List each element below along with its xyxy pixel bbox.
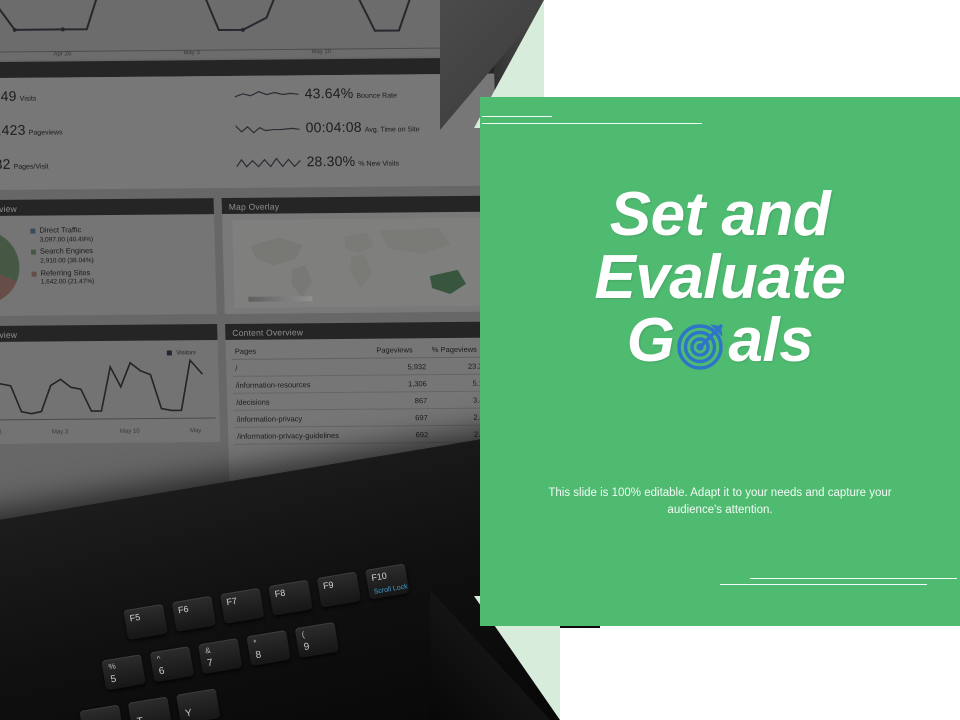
visitors-overview-panel: Visitors Overview Apr 26 May 3 May 10 Ma… [0,324,220,444]
visitors-xtick-2: May 10 [120,429,140,435]
key-f8-label: F8 [274,588,286,600]
content-overview-table: Pages Pageviews % Pageviews / 5,932 23.3… [232,342,499,445]
cell-page: /information-privacy-guidelines [234,426,376,444]
visitors-legend-label: Visitors [176,350,196,356]
key-f9-label: F9 [322,579,334,591]
sources-pie-chart [0,230,20,305]
decor-rule-top-short [482,116,552,117]
key-f8: F8 [268,580,312,616]
key-f10-label: F10 [371,571,388,583]
goal-prefix: G [627,309,675,372]
page-title: Set and Evaluate G als [480,183,960,373]
target-goal-icon [676,319,728,371]
legend-value-referring-sites: 1,642.00 (21.47%) [41,279,95,287]
top-chart-xtick-1: May 3 [183,50,200,56]
cell-pageviews: 5,932 [374,358,430,375]
top-chart-xtick-0: Apr 26 [53,51,71,57]
content-overview-title: Content Overview [225,322,501,340]
sparkline-newvisits-icon [236,156,300,169]
key-9-label: 9 [303,641,310,653]
visitors-overview-title: Visitors Overview [0,324,218,342]
visitors-xtick-3: May [190,428,202,434]
key-8: * 8 [246,630,290,666]
cell-page: / [232,358,374,376]
key-y: Y [176,688,220,720]
legend-item-direct-traffic: Direct Traffic 3,097.00 (40.49%) [30,225,93,244]
key-5-label: 5 [110,674,117,686]
legend-item-search-engines: Search Engines 2,910.00 (38.04%) [31,247,94,266]
metric-pages-per-visit-value: 3.32 [0,156,11,172]
key-f9: F9 [317,572,361,608]
decor-rule-bottom-upper [750,578,957,579]
metric-visits: 7,649Visits [0,88,37,106]
top-chart-xtick-2: May 10 [311,49,331,55]
col-pages: Pages [232,343,374,360]
legend-label-direct-traffic: Direct Traffic [39,225,81,234]
cell-pageviews: 692 [375,426,431,443]
key-9: ( 9 [295,622,339,658]
key-f10: F10 Scroll Lock [365,563,409,599]
col-pageviews: Pageviews [373,342,429,358]
metric-new-visits-value: 28.30% [306,153,355,169]
key-r: R [79,705,123,720]
key-f7-label: F7 [226,596,238,608]
keyboard-fn-row: F5 F6 F7 F8 F9 F10 Scroll Lock [123,563,409,640]
sparkline-bounce-icon [234,88,298,101]
metric-bounce-rate: 43.64%Bounce Rate [234,84,397,103]
metric-avg-time: 00:04:08Avg. Time on Site [235,118,419,138]
metric-avg-time-value: 00:04:08 [305,119,362,135]
key-6: ^ 6 [150,646,194,682]
key-f6: F6 [172,596,216,632]
visitors-legend: Visitors [167,350,196,356]
map-overlay-title: Map Overlay [222,196,498,214]
decor-rule-top-long [482,123,702,124]
sparkline-time-icon [235,122,299,135]
sources-overview-title: Sources Overview [0,198,214,216]
key-6-shift: ^ [156,654,161,663]
key-5: % 5 [101,654,145,690]
metric-avg-time-unit: Avg. Time on Site [365,126,420,133]
visits-trend-chart: Apr 26 May 3 May 10 May 17 250 [0,0,494,61]
key-y-label: Y [184,708,192,720]
cell-pageviews: 697 [375,409,431,426]
metric-new-visits-unit: % New Visits [358,160,399,167]
metric-pages-per-visit-unit: Pages/Visit [14,164,49,171]
sources-legend: Direct Traffic 3,097.00 (40.49%) Search … [30,225,94,290]
white-block-bottom [560,628,960,720]
legend-value-direct-traffic: 3,097.00 (40.49%) [40,236,94,244]
keyboard-letter-row: R T Y [79,688,220,720]
table-row: /information-privacy-guidelines 692 2.72… [234,425,499,444]
key-t-label: T [136,716,144,720]
cell-page: /information-resources [233,375,375,393]
map-intensity-legend [248,296,312,302]
metric-pageviews: 25,423Pageviews [0,121,63,140]
cell-page: /information-privacy [233,409,375,427]
key-f10-sublabel: Scroll Lock [373,583,408,596]
cell-pageviews: 867 [374,392,430,409]
key-9-shift: ( [301,630,305,639]
cell-page: /decisions [233,392,375,410]
key-t: T [128,696,172,720]
key-f7: F7 [220,588,264,624]
green-content-panel: Set and Evaluate G als This slide is [480,97,960,626]
decor-rule-bottom-lower [720,584,927,585]
metrics-summary-panel: 7,649Visits 25,423Pageviews 3.32Pages/Vi… [0,74,497,191]
key-f5-label: F5 [129,612,141,624]
metric-pages-per-visit: 3.32Pages/Visit [0,156,49,175]
world-map [232,218,490,308]
visitors-xtick-0: Apr 26 [0,430,2,436]
sources-overview-panel: Sources Overview Direct Traffic 3,097.00… [0,198,217,316]
metric-bounce-rate-unit: Bounce Rate [356,92,397,99]
key-7: & 7 [198,638,242,674]
key-7-label: 7 [206,657,213,669]
key-f5: F5 [123,604,167,640]
slide-subtitle: This slide is 100% editable. Adapt it to… [530,485,910,518]
metric-bounce-rate-value: 43.64% [304,85,353,101]
legend-swatch-icon [32,271,37,276]
legend-label-search-engines: Search Engines [40,247,93,256]
visitors-trend-chart [0,348,216,434]
white-block-top [544,0,960,98]
title-line-3: G als [627,309,813,372]
legend-item-referring-sites: Referring Sites 1,642.00 (21.47%) [31,268,94,287]
slide-canvas: Apr 26 May 3 May 10 May 17 250 7,649Visi… [0,0,960,720]
metric-pageviews-unit: Pageviews [29,129,63,136]
legend-swatch-icon [30,228,35,233]
key-8-shift: * [253,638,258,647]
metric-visits-unit: Visits [20,96,37,103]
visitors-xtick-1: May 3 [52,429,69,435]
legend-swatch-icon [167,350,172,355]
key-8-label: 8 [255,649,262,661]
metric-visits-value: 7,649 [0,88,17,104]
legend-swatch-icon [31,250,36,255]
key-5-shift: % [108,662,117,672]
cell-pageviews: 1,306 [374,375,430,392]
title-line-1: Set and [480,183,960,246]
metric-new-visits: 28.30%% New Visits [236,152,399,171]
metric-pageviews-value: 25,423 [0,122,26,138]
legend-value-search-engines: 2,910.00 (38.04%) [40,257,94,265]
title-line-2: Evaluate [480,246,960,309]
goal-suffix: als [729,309,814,372]
key-6-label: 6 [158,666,165,678]
legend-label-referring-sites: Referring Sites [40,268,90,277]
key-7-shift: & [204,646,211,656]
map-overlay-panel: Map Overlay [222,196,501,314]
key-f6-label: F6 [177,604,189,616]
